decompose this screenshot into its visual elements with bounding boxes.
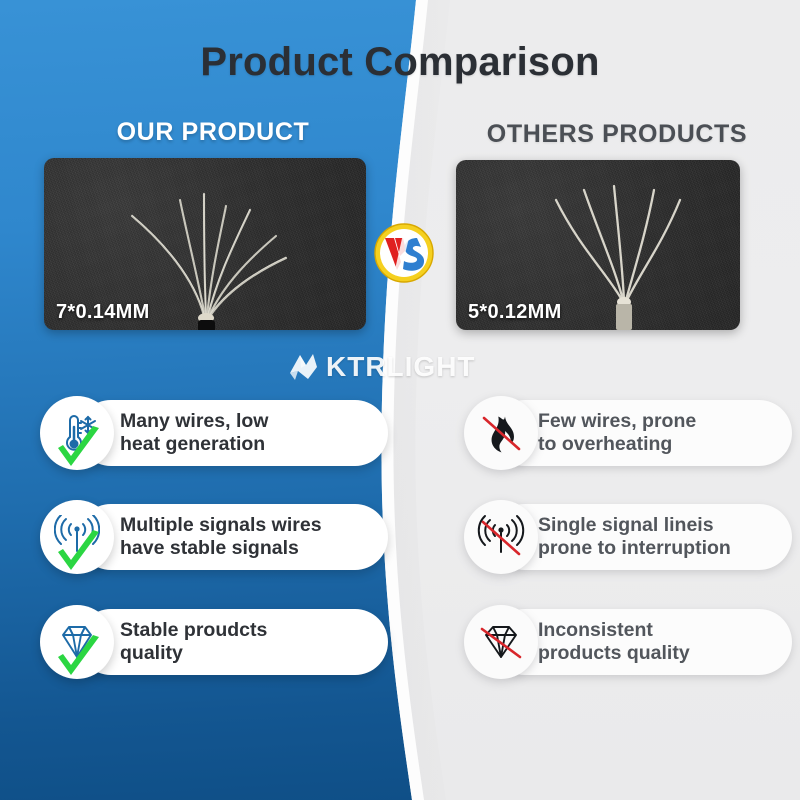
feature-line-2: products quality [538, 642, 690, 664]
feature-icon-bubble-left-2 [40, 500, 114, 574]
feature-line-1: Single signal lineis [538, 514, 714, 536]
diamond-icon [53, 621, 101, 663]
feature-icon-bubble-left-1 [40, 396, 114, 470]
feature-line-2: have stable signals [120, 537, 299, 559]
feature-line-1: Many wires, low [120, 410, 268, 432]
column-heading-our-product: OUR PRODUCT [48, 118, 378, 147]
feature-line-2: to overheating [538, 433, 672, 455]
versus-badge [373, 222, 435, 284]
signal-tower-icon [477, 514, 525, 560]
thermometer-snowflake-icon [55, 411, 99, 455]
brand-name: KTRLIGHT [326, 351, 476, 383]
brand-logo: KTRLIGHT [286, 349, 476, 385]
feature-text-left-2: Multiple signals wires have stable signa… [78, 514, 336, 560]
column-heading-others-products: OTHERS PRODUCTS [452, 120, 782, 149]
feature-line-1: Stable proudcts [120, 619, 267, 641]
product-photo-others-product: 5*0.12MM [456, 160, 740, 330]
photo-label-right: 5*0.12MM [468, 301, 562, 324]
feature-icon-bubble-right-3 [464, 605, 538, 679]
feature-line-1: Multiple signals wires [120, 514, 322, 536]
feature-pill-left-1: Many wires, low heat generation [78, 400, 388, 466]
feature-line-2: heat generation [120, 433, 265, 455]
comparison-infographic: Product Comparison OUR PRODUCT OTHERS PR… [0, 0, 800, 800]
feature-line-2: quality [120, 642, 183, 664]
feature-icon-bubble-left-3 [40, 605, 114, 679]
diamond-icon [476, 620, 526, 664]
feature-line-1: Inconsistent [538, 619, 653, 641]
page-title: Product Comparison [0, 40, 800, 85]
feature-line-2: prone to interruption [538, 537, 731, 559]
feature-icon-bubble-right-2 [464, 500, 538, 574]
flame-icon [477, 409, 525, 457]
product-photo-our-product: 7*0.14MM [44, 158, 366, 330]
photo-label-left: 7*0.14MM [56, 301, 150, 324]
feature-icon-bubble-right-1 [464, 396, 538, 470]
arrow-mark-logo-icon [286, 351, 320, 383]
feature-line-1: Few wires, prone [538, 410, 696, 432]
feature-pill-left-3: Stable proudcts quality [78, 609, 388, 675]
feature-pill-left-2: Multiple signals wires have stable signa… [78, 504, 388, 570]
signal-tower-icon [54, 515, 100, 559]
